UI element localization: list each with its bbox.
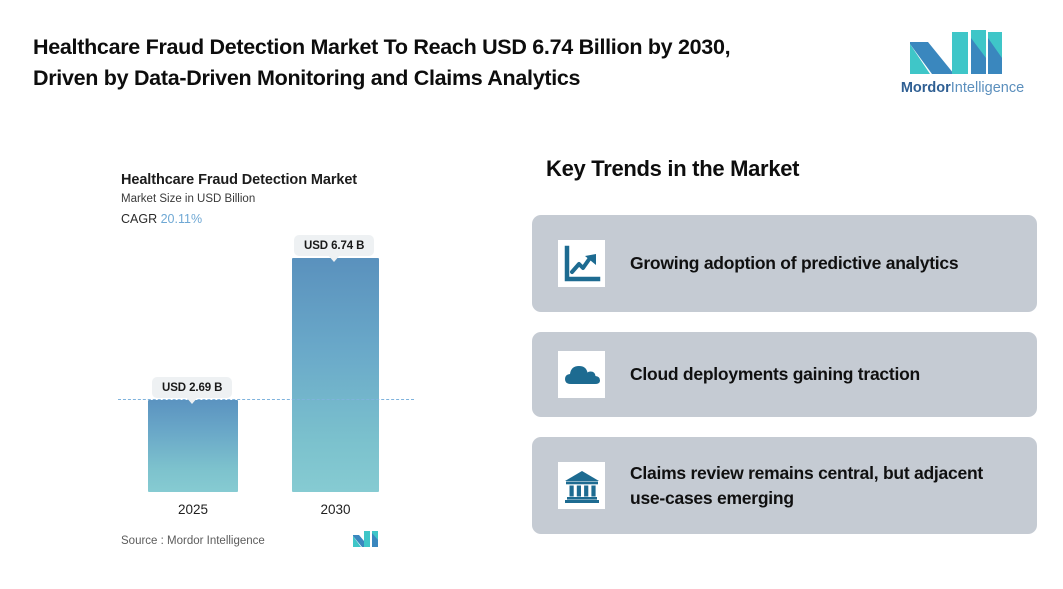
trend-card-2[interactable]: Cloud deployments gaining traction (532, 332, 1037, 417)
headline-line-1: Healthcare Fraud Detection Market To Rea… (33, 35, 730, 59)
page-title: Healthcare Fraud Detection Market To Rea… (33, 32, 878, 94)
chart-panel: Healthcare Fraud Detection Market Market… (0, 130, 520, 570)
value-callout-2025: USD 2.69 B (152, 377, 232, 398)
value-callout-2030: USD 6.74 B (294, 235, 374, 256)
bar-2025 (148, 400, 238, 492)
brand-logo: MordorIntelligence (890, 28, 1035, 108)
line-chart-up-icon (558, 240, 605, 287)
bar-chart-plot: USD 6.74 B USD 2.69 B 2025 2030 (0, 130, 520, 530)
bar-2030 (292, 258, 379, 492)
trend-card-1[interactable]: Growing adoption of predictive analytics (532, 215, 1037, 312)
brand-name: MordorIntelligence (890, 80, 1035, 96)
reference-dashed-line (118, 399, 414, 400)
trends-title: Key Trends in the Market (546, 156, 799, 182)
trend-card-3-text: Claims review remains central, but adjac… (630, 461, 1000, 511)
trend-card-2-text: Cloud deployments gaining traction (630, 362, 920, 387)
x-axis-label-2030: 2030 (292, 502, 379, 517)
bank-institution-icon (558, 462, 605, 509)
source-label: Source : Mordor Intelligence (121, 535, 265, 547)
key-trends-panel: Key Trends in the Market Growing adoptio… (530, 150, 1040, 550)
trend-card-3[interactable]: Claims review remains central, but adjac… (532, 437, 1037, 534)
header: Healthcare Fraud Detection Market To Rea… (0, 0, 1063, 125)
cloud-icon (558, 351, 605, 398)
brand-name-bold: Mordor (901, 80, 951, 96)
infographic-page: Healthcare Fraud Detection Market To Rea… (0, 0, 1063, 589)
brand-name-light: Intelligence (951, 80, 1024, 96)
trend-card-1-text: Growing adoption of predictive analytics (630, 251, 958, 276)
x-axis-label-2025: 2025 (148, 502, 238, 517)
headline-line-2: Driven by Data-Driven Monitoring and Cla… (33, 63, 878, 94)
mordor-m-logo-icon (908, 28, 1018, 76)
mordor-m-logo-small-icon (352, 530, 380, 548)
